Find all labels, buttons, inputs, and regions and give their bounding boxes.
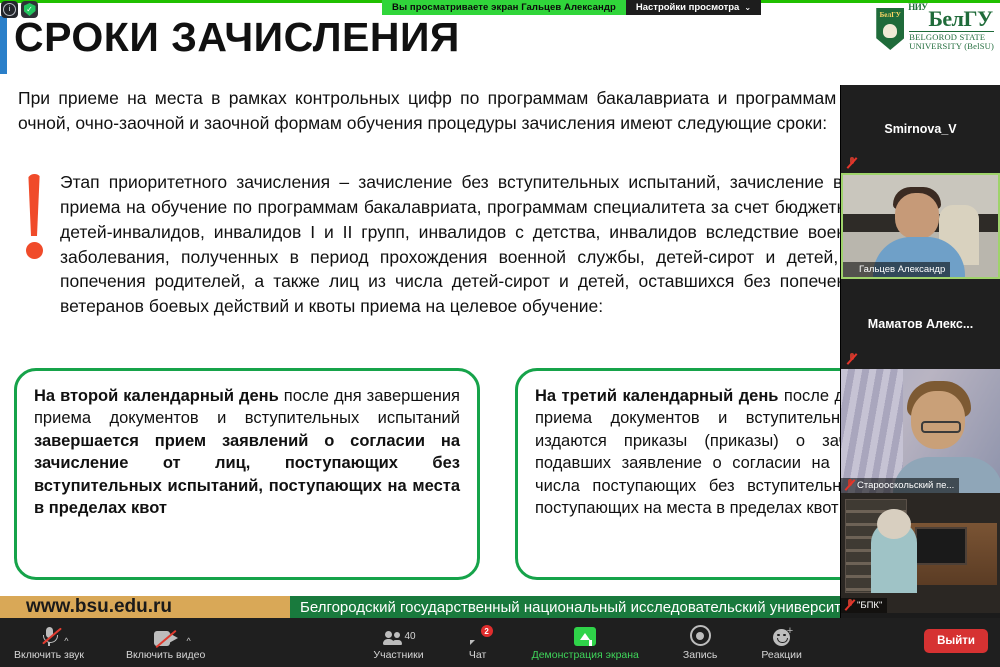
chat-unread-badge: 2 <box>481 625 493 637</box>
video-tile-starooskolsky[interactable]: Старооскольский пе... <box>841 369 1000 493</box>
chat-label: Чат <box>469 649 486 661</box>
participants-icon: 40 <box>384 624 414 646</box>
video-tile-name: Старооскольский пе... <box>841 478 959 493</box>
reactions-label: Реакции <box>761 649 802 661</box>
exclamation-icon <box>18 170 50 319</box>
info-box-left-bold-tail: завершается прием заявлений о согласии н… <box>34 432 460 517</box>
logo-crest-text: БелГУ <box>880 11 901 19</box>
zoom-toolbar: ^ Включить звук ^ Включить видео 40 Учас… <box>0 618 1000 667</box>
video-frame-bpk <box>841 493 1000 613</box>
video-tile-name: Smirnova_V <box>884 122 956 136</box>
leave-meeting-button[interactable]: Выйти <box>924 629 988 653</box>
shield-check-glyph: ✓ <box>26 6 33 14</box>
logo-line1: BELGOROD STATE <box>909 31 994 42</box>
video-tile-name: Гальцев Александр <box>843 262 950 277</box>
video-filmstrip[interactable]: Smirnova_V Гальцев Александр Маматов Але… <box>840 85 1000 618</box>
mic-muted-icon <box>844 479 855 490</box>
logo-sup-text: НИУ <box>908 2 927 12</box>
info-box-second-day: На второй календарный день после дня зав… <box>14 368 480 580</box>
camera-muted-icon: ^ <box>154 624 178 646</box>
start-video-button[interactable]: ^ Включить видео <box>126 618 205 667</box>
university-logo: БелГУ НИУБелГУ BELGOROD STATE UNIVERSITY… <box>876 8 994 50</box>
chat-icon: 2 <box>468 624 488 646</box>
info-badge-glyph: i <box>3 3 16 16</box>
mic-muted-icon <box>846 353 857 364</box>
record-label: Запись <box>683 649 717 661</box>
record-button[interactable]: Запись <box>683 618 717 667</box>
unmute-label: Включить звук <box>14 649 84 661</box>
start-video-label: Включить видео <box>126 649 205 661</box>
shield-icon[interactable]: ✓ <box>21 1 38 18</box>
logo-horse-icon <box>883 24 897 38</box>
view-options-label: Настройки просмотра <box>636 2 739 13</box>
video-tile-smirnova[interactable]: Smirnova_V <box>841 85 1000 173</box>
info-box-left-bold-lead: На второй календарный день <box>34 387 279 405</box>
video-frame-starooskolsky <box>841 369 1000 493</box>
chevron-down-icon: ⌄ <box>744 3 751 12</box>
record-icon <box>690 624 711 646</box>
logo-line2: UNIVERSITY (BelSU) <box>909 42 994 51</box>
unmute-button[interactable]: ^ Включить звук <box>14 618 84 667</box>
share-screen-icon <box>574 624 596 646</box>
mic-muted-icon <box>846 157 857 168</box>
view-options-button[interactable]: Настройки просмотра ⌄ <box>626 0 761 15</box>
page-title: СРОКИ ЗАЧИСЛЕНИЯ <box>14 14 460 61</box>
slide-accent-bar <box>0 16 7 74</box>
participants-count: 40 <box>405 631 416 642</box>
screenshare-status-text: Вы просматриваете экран Гальцев Александ… <box>382 0 626 15</box>
video-tile-bpk[interactable]: "БПК" <box>841 493 1000 613</box>
video-tile-name: Маматов Алекс... <box>868 317 974 331</box>
mic-muted-icon: ^ <box>43 624 56 646</box>
chat-button[interactable]: 2 Чат <box>468 618 488 667</box>
footer-url: www.bsu.edu.ru <box>0 596 290 618</box>
logo-main-text: НИУБелГУ <box>909 8 994 30</box>
mic-muted-icon <box>844 599 855 610</box>
overlay-icons: i ✓ <box>1 1 38 18</box>
logo-crest-icon: БелГУ <box>876 8 904 50</box>
screenshare-status-bar: Вы просматриваете экран Гальцев Александ… <box>382 0 761 15</box>
reactions-icon: + <box>773 624 790 646</box>
video-tile-galtsev[interactable]: Гальцев Александр <box>841 173 1000 279</box>
reactions-button[interactable]: + Реакции <box>761 618 802 667</box>
info-badge-icon[interactable]: i <box>1 1 18 18</box>
share-screen-label: Демонстрация экрана <box>532 649 639 661</box>
participants-button[interactable]: 40 Участники <box>373 618 423 667</box>
audio-options-caret[interactable]: ^ <box>64 636 68 646</box>
video-tile-mamatov[interactable]: Маматов Алекс... <box>841 279 1000 369</box>
video-options-caret[interactable]: ^ <box>186 636 190 646</box>
share-screen-button[interactable]: Демонстрация экрана <box>532 618 639 667</box>
info-box-right-bold-lead: На третий календарный день <box>535 387 778 405</box>
participants-label: Участники <box>373 649 423 661</box>
